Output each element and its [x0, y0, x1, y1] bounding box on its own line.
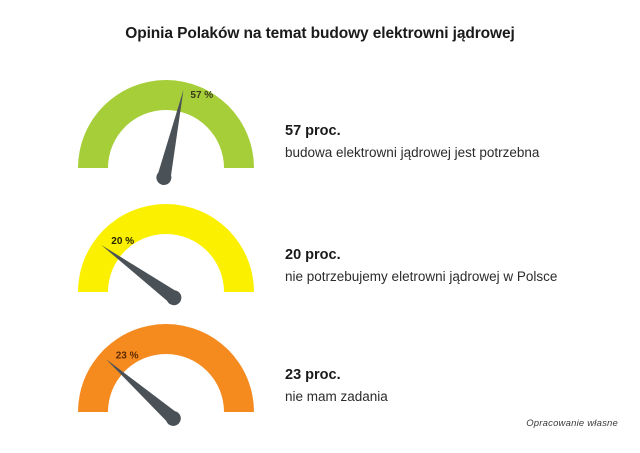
legend-block-oppose: 20 proc. nie potrzebujemy eletrowni jądr…: [285, 246, 635, 286]
legend-headline-noopinion: 23 proc.: [285, 366, 635, 386]
gauge-oppose-svg: 20 %: [76, 184, 256, 299]
legend-description-oppose: nie potrzebujemy eletrowni jądrowej w Po…: [285, 268, 635, 286]
gauge-support: 57 %: [76, 60, 256, 175]
legend-description-support: budowa elektrowni jądrowej jest potrzebn…: [285, 144, 635, 162]
legend-headline-oppose: 20 proc.: [285, 246, 635, 266]
gauge-row-oppose: 20 % 20 proc. nie potrzebujemy eletrowni…: [0, 184, 640, 304]
gauge-value-label-support: 57 %: [190, 90, 213, 101]
gauge-support-svg: 57 %: [76, 60, 256, 175]
gauge-arc-oppose: [78, 204, 254, 292]
legend-description-noopinion: nie mam zadania: [285, 388, 635, 406]
legend-block-support: 57 proc. budowa elektrowni jądrowej jest…: [285, 122, 635, 162]
gauge-arc-noopinion: [78, 324, 254, 412]
legend-headline-support: 57 proc.: [285, 122, 635, 142]
source-note: Opracowanie własne: [526, 418, 618, 429]
gauge-noopinion-svg: 23 %: [76, 304, 256, 419]
gauge-needle-noopinion: [101, 353, 184, 429]
gauge-noopinion: 23 %: [76, 304, 256, 419]
gauge-value-label-noopinion: 23 %: [116, 350, 139, 361]
legend-block-noopinion: 23 proc. nie mam zadania: [285, 366, 635, 406]
gauge-row-noopinion: 23 % 23 proc. nie mam zadania: [0, 304, 640, 424]
infographic-root: Opinia Polaków na temat budowy elektrown…: [0, 0, 640, 453]
gauge-value-label-oppose: 20 %: [111, 236, 134, 247]
gauge-oppose: 20 %: [76, 184, 256, 299]
gauge-row-support: 57 % 57 proc. budowa elektrowni jądrowej…: [0, 60, 640, 180]
page-title: Opinia Polaków na temat budowy elektrown…: [0, 25, 640, 44]
